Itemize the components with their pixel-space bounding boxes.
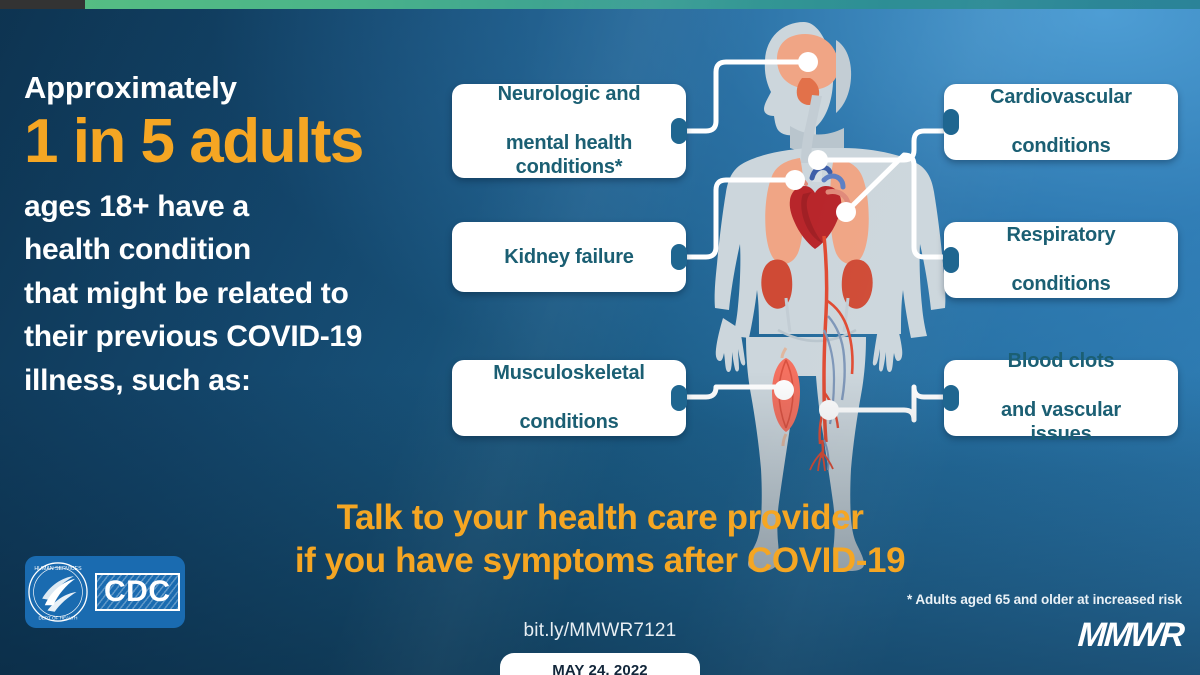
connector-cardiovascular — [820, 131, 944, 160]
headline-line-4: health condition — [24, 228, 444, 272]
callout-bloodclots-line2: and vascular issues — [958, 398, 1164, 447]
callout-kidney[interactable]: Kidney failure — [452, 222, 686, 292]
headline-approximately: Approximately — [24, 72, 444, 105]
connector-bloodclots — [830, 387, 944, 420]
publication-date-badge: MAY 24, 2022 — [500, 653, 700, 675]
callout-bloodclots-text: Blood clots and vascular issues — [944, 349, 1178, 447]
callout-musculoskeletal-text: Musculoskeletal conditions — [465, 361, 673, 434]
dot-brain — [798, 52, 818, 72]
headline-line-5: that might be related to — [24, 272, 444, 316]
dot-vessels — [819, 400, 839, 420]
cdc-logo[interactable]: HUMAN SERVICES DEPT OF HEALTH CDC — [25, 556, 185, 628]
callout-neurologic-line2: mental health conditions* — [466, 131, 672, 180]
callout-neurologic-text: Neurologic and mental health conditions* — [452, 82, 686, 180]
callout-musculoskeletal-line1: Musculoskeletal — [479, 361, 659, 385]
callout-bloodclots[interactable]: Blood clots and vascular issues — [944, 360, 1178, 436]
cdc-wordmark: CDC — [95, 573, 180, 612]
callout-respiratory-line2: conditions — [993, 272, 1130, 296]
callout-cardiovascular-text: Cardiovascular conditions — [962, 85, 1160, 158]
callout-notch — [670, 118, 687, 144]
dot-kidney — [785, 170, 805, 190]
connector-musculoskeletal — [686, 387, 782, 397]
callout-musculoskeletal[interactable]: Musculoskeletal conditions — [452, 360, 686, 436]
mmwr-logo: MMWR — [1076, 616, 1183, 655]
dot-heart — [808, 150, 828, 170]
callout-cardiovascular[interactable]: Cardiovascular conditions — [944, 84, 1178, 160]
infographic-canvas: Approximately 1 in 5 adults ages 18+ hav… — [0, 0, 1200, 675]
headline-line-7: illness, such as: — [24, 359, 444, 403]
svg-text:HUMAN SERVICES: HUMAN SERVICES — [34, 566, 82, 572]
headline-line-3: ages 18+ have a — [24, 185, 444, 229]
top-accent-bar — [0, 0, 1200, 9]
headline-line-6: their previous COVID-19 — [24, 315, 444, 359]
svg-text:DEPT OF HEALTH: DEPT OF HEALTH — [38, 616, 77, 621]
callout-notch — [670, 244, 687, 270]
callout-notch — [943, 385, 960, 411]
dot-lung — [836, 202, 856, 222]
callout-cardiovascular-line1: Cardiovascular — [976, 85, 1146, 109]
top-bar-gradient-segment — [85, 0, 1200, 9]
headline-body: ages 18+ have a health condition that mi… — [24, 185, 444, 403]
connector-neurologic — [686, 62, 806, 131]
callout-notch — [943, 247, 960, 273]
connector-kidney — [686, 180, 796, 257]
callout-respiratory-text: Respiratory conditions — [979, 223, 1144, 296]
callout-musculoskeletal-line2: conditions — [479, 410, 659, 434]
cta-line-1: Talk to your health care provider — [0, 496, 1200, 539]
callout-kidney-text: Kidney failure — [490, 245, 647, 269]
callout-notch — [670, 385, 687, 411]
callout-cardiovascular-line2: conditions — [976, 134, 1146, 158]
callout-neurologic[interactable]: Neurologic and mental health conditions* — [452, 84, 686, 178]
connector-lines — [686, 62, 944, 420]
connector-endpoint-dots — [774, 52, 856, 420]
human-body-figure — [715, 22, 946, 571]
footnote-text: * Adults aged 65 and older at increased … — [907, 592, 1182, 607]
connector-respiratory — [846, 155, 944, 257]
callout-neurologic-line1: Neurologic and — [466, 82, 672, 106]
headline-statistic: 1 in 5 adults — [24, 111, 444, 173]
callout-respiratory[interactable]: Respiratory conditions — [944, 222, 1178, 298]
dot-calf — [774, 380, 794, 400]
callout-bloodclots-line1: Blood clots — [958, 349, 1164, 373]
callout-notch — [943, 109, 960, 135]
top-bar-dark-segment — [0, 0, 85, 9]
headline-block: Approximately 1 in 5 adults ages 18+ hav… — [24, 72, 444, 402]
hhs-seal-icon: HUMAN SERVICES DEPT OF HEALTH — [25, 559, 91, 625]
callout-respiratory-line1: Respiratory — [993, 223, 1130, 247]
